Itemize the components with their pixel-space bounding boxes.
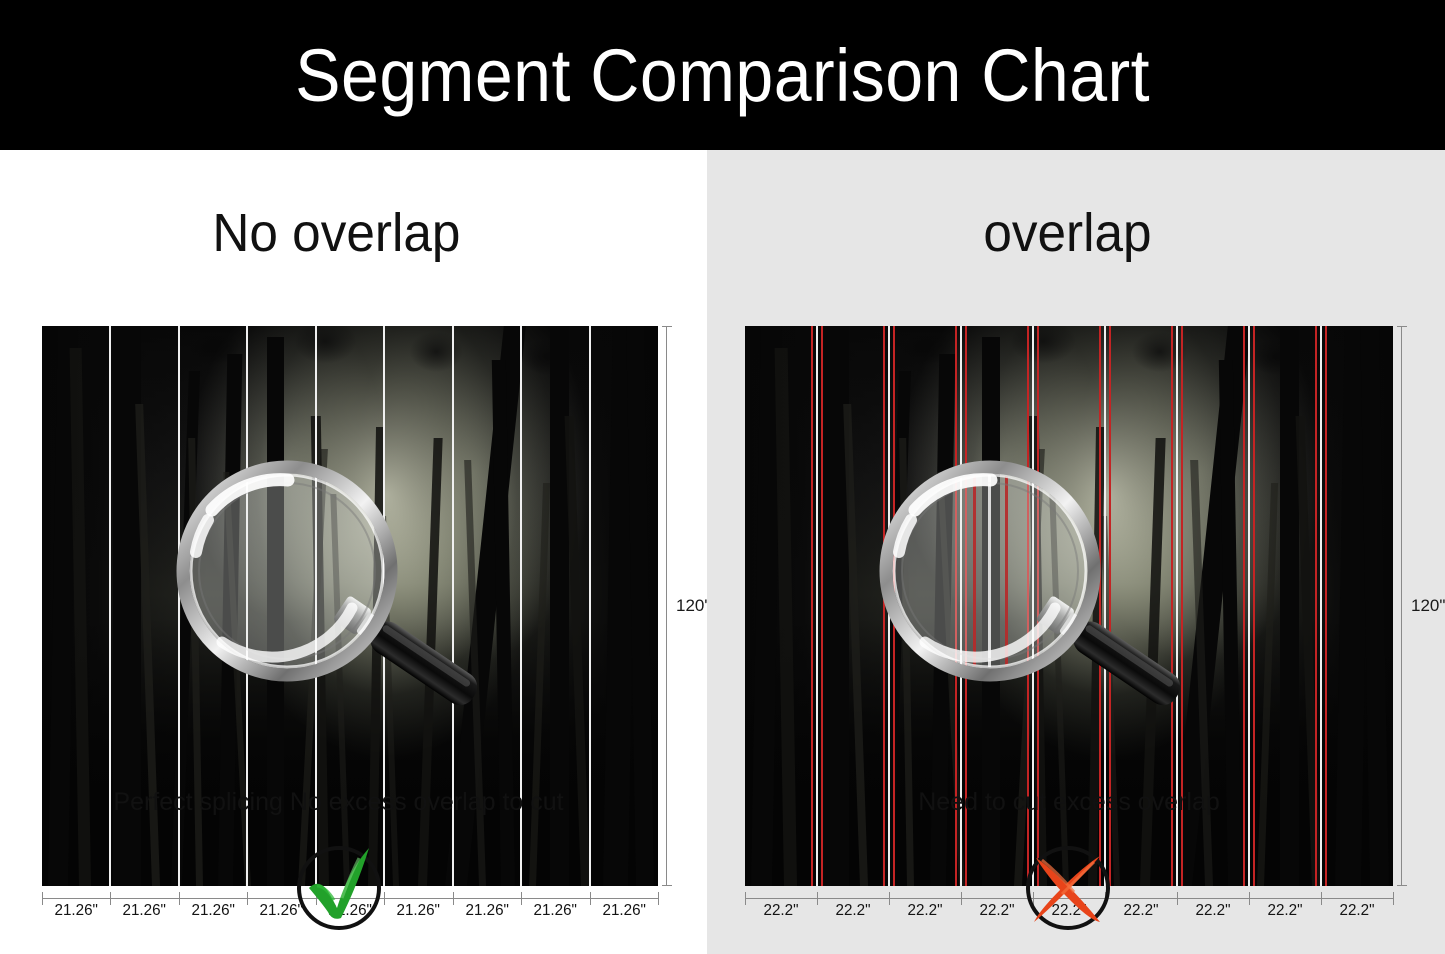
verdict-overlap: [707, 836, 1445, 940]
caption-overlap: Need to cut excess overlap: [707, 788, 1445, 817]
header-banner: Segment Comparison Chart: [0, 0, 1445, 150]
dimension-cap-top: [662, 326, 672, 327]
green-check-icon: [287, 836, 391, 940]
panel-heading-no-overlap: No overlap: [18, 202, 690, 264]
panel-no-overlap: No overlap: [0, 150, 707, 954]
panel-overlap: overlap: [707, 150, 1445, 954]
segment-comparison-chart: Segment Comparison Chart No overlap: [0, 0, 1445, 954]
comparison-panels: No overlap: [0, 150, 1445, 954]
dimension-cap-top: [1397, 326, 1407, 327]
panel-heading-overlap: overlap: [725, 202, 1426, 264]
height-label-left: 120": [676, 596, 710, 616]
page-title: Segment Comparison Chart: [295, 33, 1150, 118]
caption-no-overlap: Perfect splicing No excess overlap to cu…: [0, 788, 707, 817]
height-label-right: 120": [1411, 596, 1445, 616]
verdict-no-overlap: [0, 836, 707, 940]
red-cross-icon: [1016, 836, 1120, 940]
